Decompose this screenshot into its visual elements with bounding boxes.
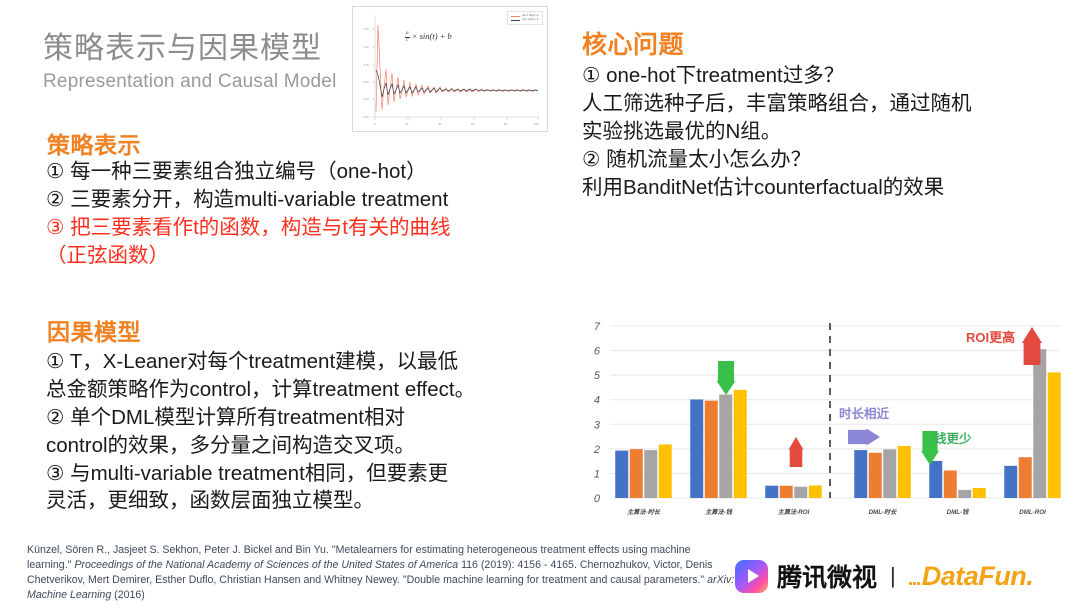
text-line: ① T，X-Leaner对每个treatment建模，以最低: [46, 348, 571, 376]
logo-separator: |: [890, 563, 896, 589]
datafun-wordmark: DataFun.: [909, 561, 1034, 592]
svg-text:100: 100: [534, 122, 539, 126]
bar: [944, 470, 957, 498]
y-axis-tick: 0: [594, 493, 601, 505]
y-axis-tick: 3: [594, 419, 601, 431]
svg-text:20: 20: [405, 122, 409, 126]
annotation-arrow-up: [1022, 327, 1042, 365]
svg-text:1.25: 1.25: [363, 27, 369, 31]
legend-label: a/t × sin(t) + b: [522, 18, 538, 22]
bar: [1004, 466, 1017, 498]
citation-text: learning for treatment and causal parame…: [486, 574, 704, 586]
section-heading-strategy: 策略表示: [47, 126, 141, 160]
svg-text:0: 0: [374, 122, 376, 126]
bar: [854, 450, 867, 498]
y-axis-tick: 7: [594, 321, 601, 333]
x-axis-category-label: DML-时长: [869, 508, 898, 516]
bar: [659, 444, 672, 498]
section-body-causal: ① T，X-Leaner对每个treatment建模，以最低 总金额策略作为co…: [46, 348, 571, 515]
weishi-wordmark: 腾讯微视: [777, 558, 877, 594]
text-line: ③ 与multi-variable treatment相同，但要素更: [46, 460, 571, 488]
annotation-arrow-down: [717, 361, 736, 395]
text-line: 总金额策略作为control，计算treatment effect。: [46, 376, 571, 404]
footnote-citations: Künzel, Sören R., Jasjeet S. Sekhon, Pet…: [27, 543, 737, 603]
text-line: ② 单个DML模型计算所有treatment相对: [46, 404, 571, 432]
section-body-strategy: ① 每一种三要素组合独立编号（one-hot） ② 三要素分开，构造multi-…: [46, 158, 566, 270]
section-body-core: ① one-hot下treatment过多？ 人工筛选种子后，丰富策略组合，通过…: [582, 62, 1062, 201]
x-axis-category-label: 主算法-时长: [627, 508, 661, 516]
bar: [705, 401, 718, 498]
svg-text:60: 60: [471, 122, 475, 126]
bar: [615, 451, 628, 498]
legend-swatch-dark: [511, 20, 520, 21]
y-axis-tick: 2: [593, 444, 600, 456]
text-line-highlight: （正弦函数）: [46, 242, 566, 270]
y-axis-tick: 1: [594, 468, 600, 480]
datafun-label: DataFun.: [922, 561, 1034, 591]
annotation-arrow-right: [848, 429, 880, 446]
text-line: control的效果，多分量之间构造交叉项。: [46, 432, 571, 460]
svg-text:40: 40: [438, 122, 442, 126]
svg-text:1.00: 1.00: [363, 45, 369, 49]
chart-legend: a/c × sin(t) + b a/t × sin(t) + b: [507, 11, 543, 25]
datafun-dots-icon: [909, 561, 921, 592]
legend-item: a/t × sin(t) + b: [511, 18, 539, 22]
annotation-duration-similar: 时长相近: [839, 403, 889, 422]
x-axis-category-label: 主算法-钱: [705, 508, 733, 516]
title-block: 策略表示与因果模型 Representation and Causal Mode…: [43, 32, 337, 93]
bar-chart-plot: 01234567 主算法-时长主算法-钱主算法-ROIDML-时长DML-钱DM…: [574, 318, 1070, 523]
bar: [794, 487, 807, 498]
svg-text:0.25: 0.25: [363, 97, 369, 101]
bar: [1048, 372, 1061, 498]
bar: [630, 449, 643, 498]
annotation-money-less: 钱更少: [934, 428, 972, 447]
y-axis-tick: 6: [594, 346, 601, 358]
bar: [765, 486, 778, 498]
sine-decay-chart: 0.000.25 0.500.75 1.001.25 020 4060 8010…: [352, 6, 548, 132]
bar: [1033, 349, 1046, 498]
svg-text:0.75: 0.75: [363, 63, 369, 67]
page-title: 策略表示与因果模型: [43, 32, 337, 67]
bar: [898, 446, 911, 498]
svg-text:80: 80: [504, 122, 508, 126]
annotation-arrow-up: [789, 437, 804, 467]
text-line: ① 每一种三要素组合独立编号（one-hot）: [46, 158, 566, 186]
text-line: 利用BanditNet估计counterfactual的效果: [582, 174, 1062, 202]
bar: [1019, 457, 1032, 498]
x-axis-category-label: DML-ROI: [1019, 509, 1046, 516]
citation-text: Künzel, Sören R., Jasjeet S. Sekhon, Pet…: [27, 544, 648, 556]
section-heading-causal: 因果模型: [47, 313, 141, 347]
bar: [644, 450, 657, 498]
slide-root: 策略表示与因果模型 Representation and Causal Mode…: [0, 0, 1080, 608]
formula-rest: × sin(t) + b: [412, 31, 452, 41]
bar: [869, 453, 882, 498]
page-subtitle: Representation and Causal Model: [43, 71, 337, 93]
text-line-highlight: ③ 把三要素看作t的函数，构造与t有关的曲线: [46, 214, 566, 242]
section-heading-core: 核心问题: [582, 25, 684, 61]
x-axis-category-label: 主算法-ROI: [778, 508, 810, 516]
citation-text: (2016): [114, 589, 145, 601]
text-line: 人工筛选种子后，丰富策略组合，通过随机: [582, 90, 1062, 118]
sine-decay-plot: 0.000.25 0.500.75 1.001.25 020 4060 8010…: [353, 7, 547, 131]
formula-fraction: a c: [405, 31, 410, 43]
chart-formula-annotation: a c × sin(t) + b: [405, 31, 452, 43]
bar: [883, 449, 896, 498]
svg-text:0.50: 0.50: [363, 80, 369, 84]
bar: [929, 461, 942, 498]
svg-text:0.00: 0.00: [363, 115, 369, 119]
citation-journal: Proceedings of the National Academy of S…: [74, 559, 458, 571]
x-axis-category-label: DML-钱: [947, 508, 969, 516]
weishi-play-icon: [735, 560, 768, 593]
text-line: ① one-hot下treatment过多？: [582, 62, 1062, 90]
bar: [809, 485, 822, 498]
logo-bar: 腾讯微视 | DataFun.: [735, 558, 1033, 594]
bar: [690, 399, 703, 498]
legend-swatch-red: [511, 16, 520, 17]
sine-red-curve: [376, 25, 538, 112]
bar: [973, 488, 986, 498]
text-line: 实验挑选最优的N组。: [582, 118, 1062, 146]
bar: [719, 395, 732, 498]
text-line: 灵活，更细致，函数层面独立模型。: [46, 487, 571, 515]
bar: [780, 486, 793, 498]
text-line: ② 三要素分开，构造multi-variable treatment: [46, 186, 566, 214]
annotation-roi-higher: ROI更高: [966, 327, 1015, 346]
sine-dark-curve: [376, 70, 538, 97]
bar: [958, 490, 971, 498]
citation-text: 116 (2019): 4156 - 4165.: [461, 559, 577, 571]
bar: [734, 390, 747, 498]
treatment-comparison-chart: 01234567 主算法-时长主算法-钱主算法-ROIDML-时长DML-钱DM…: [574, 318, 1070, 523]
y-axis-tick: 4: [594, 395, 600, 407]
text-line: ② 随机流量太小怎么办？: [582, 146, 1062, 174]
y-axis-tick: 5: [594, 370, 601, 382]
